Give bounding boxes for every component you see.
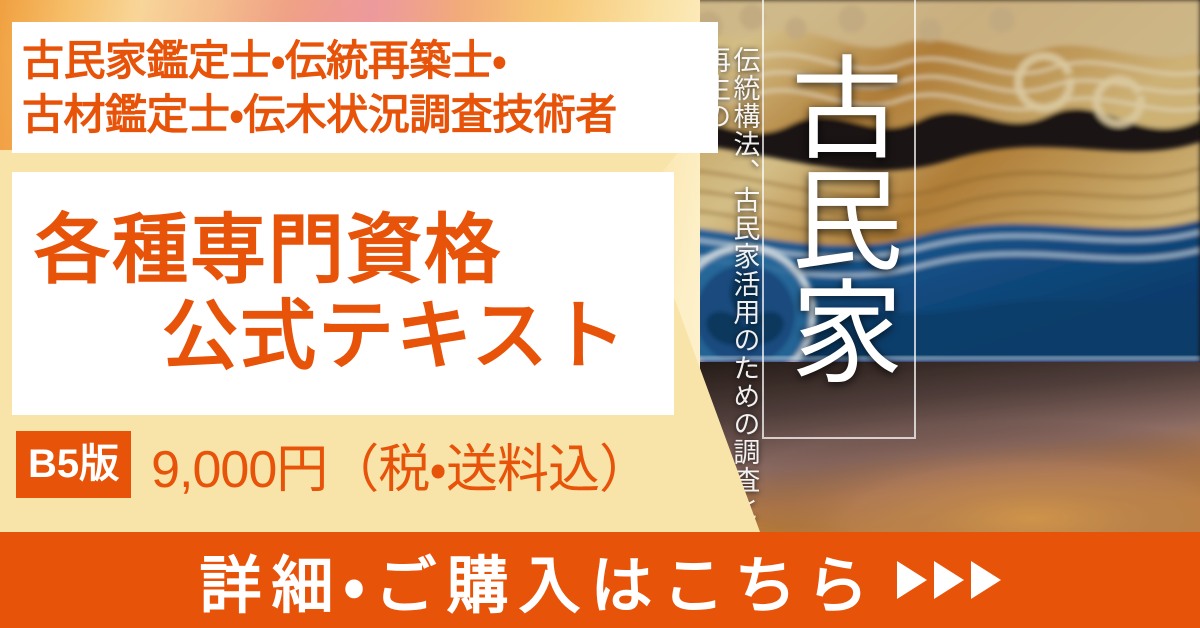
headline-panel: 各種専門資格 公式テキスト bbox=[12, 172, 674, 415]
triangle-right-icon bbox=[897, 561, 927, 599]
headline-line-1: 各種専門資格 bbox=[12, 211, 674, 291]
price-row: B5版 9,000円（税・送料込） bbox=[16, 430, 650, 498]
cta-label: 詳細・ご購入はこちら bbox=[199, 535, 878, 625]
promo-banner: 古民家 伝統構法、古民家活用のための調査と再生の 古民家鑑定士・伝統再築士・ 古… bbox=[0, 0, 1200, 628]
subheadline-panel: 古民家鑑定士・伝統再築士・ 古材鑑定士・伝木状況調査技術者 bbox=[12, 22, 718, 153]
price-amount: 9,000円（税・送料込） bbox=[151, 427, 650, 502]
headline-line-2: 公式テキスト bbox=[12, 297, 674, 377]
subheadline-line-1: 古民家鑑定士・伝統再築士・ bbox=[22, 34, 718, 87]
cta-bar[interactable]: 詳細・ご購入はこちら bbox=[0, 532, 1200, 628]
triangle-right-icon bbox=[934, 561, 964, 599]
triangle-right-icon bbox=[971, 561, 1001, 599]
cta-arrows bbox=[897, 561, 1001, 599]
book-cover-title: 古民家 bbox=[772, 8, 902, 428]
subheadline-line-2: 古材鑑定士・伝木状況調査技術者 bbox=[22, 88, 718, 141]
size-badge: B5版 bbox=[16, 431, 131, 498]
